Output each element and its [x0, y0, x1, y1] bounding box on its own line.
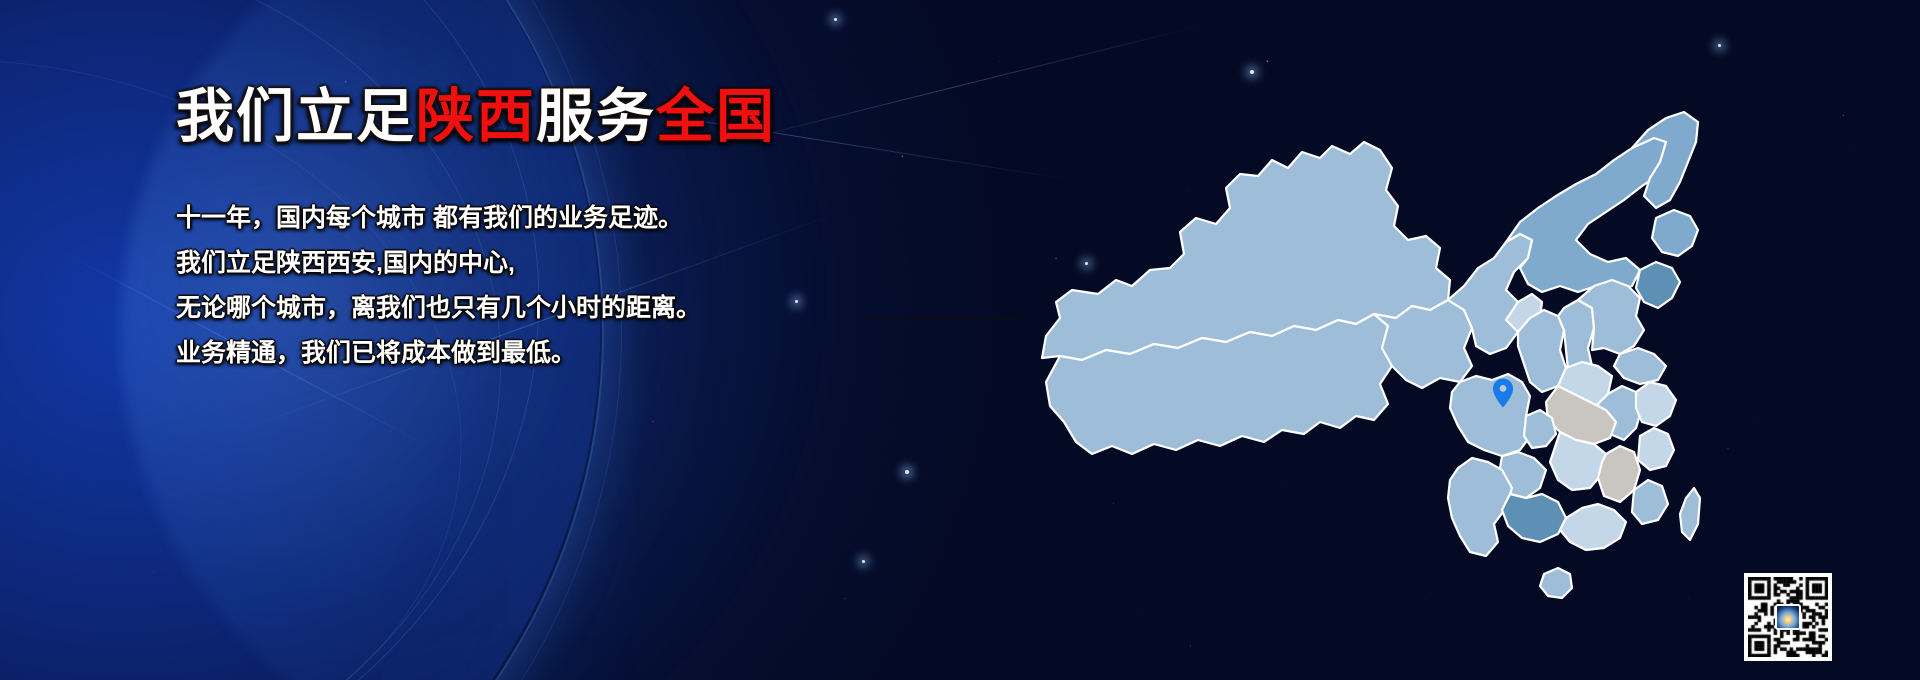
logo-icon	[1775, 604, 1801, 630]
headline-part-2-highlight: 陕西	[416, 84, 536, 149]
page-title: 我们立足陕西服务全国	[176, 88, 776, 146]
body-line-1: 十一年，国内每个城市 都有我们的业务足迹。	[176, 196, 701, 241]
body-copy: 十一年，国内每个城市 都有我们的业务足迹。 我们立足陕西西安,国内的中心, 无论…	[176, 196, 701, 376]
star-glow	[862, 560, 865, 563]
headline-part-1: 我们立足	[176, 84, 416, 149]
body-line-4: 业务精通，我们已将成本做到最低。	[176, 331, 701, 376]
promo-banner: 我们立足陕西服务全国 十一年，国内每个城市 都有我们的业务足迹。 我们立足陕西西…	[0, 0, 1920, 680]
star-glow	[1718, 44, 1721, 47]
star-glow	[834, 18, 837, 21]
location-pin-icon	[1492, 378, 1514, 408]
star-glow	[795, 300, 798, 303]
accent-rule	[860, 318, 1020, 320]
china-map	[1020, 18, 1700, 658]
body-line-2: 我们立足陕西西安,国内的中心,	[176, 241, 701, 286]
headline-part-3: 服务	[536, 84, 656, 149]
qr-code[interactable]	[1744, 573, 1832, 661]
body-line-3: 无论哪个城市，离我们也只有几个小时的距离。	[176, 286, 701, 331]
star-glow	[905, 470, 909, 474]
headline-part-4-highlight: 全国	[656, 84, 776, 149]
